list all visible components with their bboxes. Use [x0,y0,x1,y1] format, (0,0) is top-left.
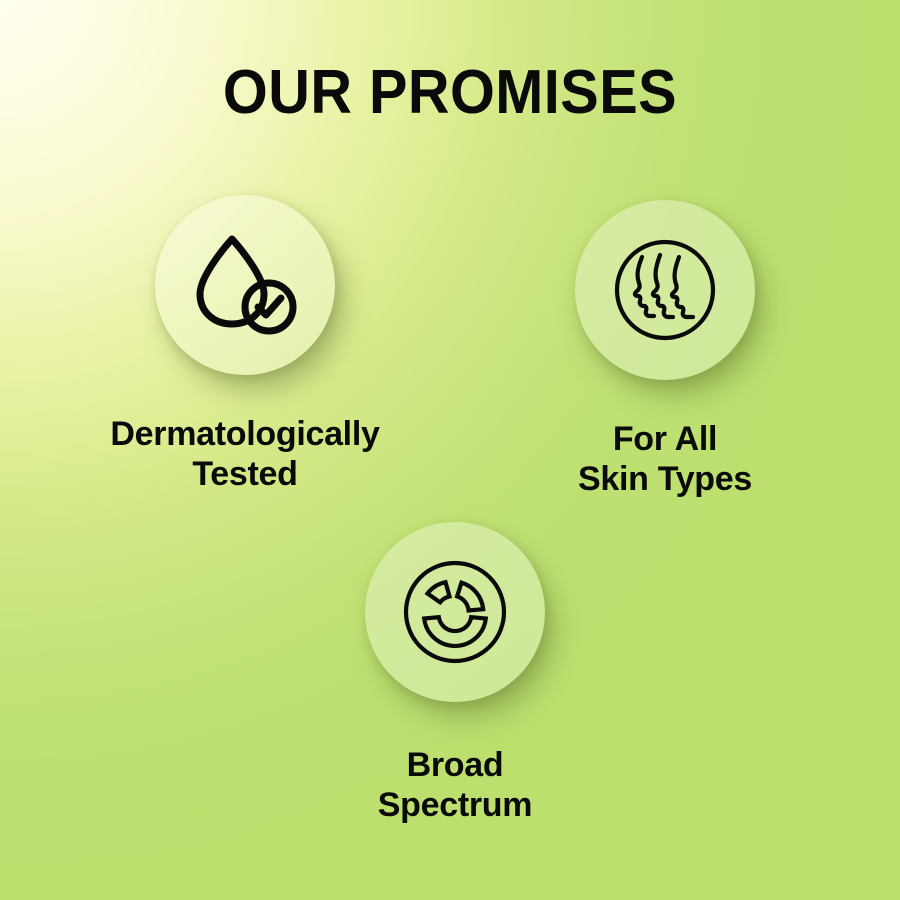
segmented-ring-icon [395,552,515,672]
promise-label: For All Skin Types [505,420,825,500]
page-title: OUR PROMISES [32,62,869,124]
promise-item-broad-spectrum: Broad Spectrum [295,522,615,826]
promise-badge-circle [365,522,545,702]
promise-label: Dermatologically Tested [85,415,405,495]
three-faces-circle-icon [605,230,725,350]
promise-label: Broad Spectrum [295,746,615,826]
water-drop-check-icon [185,225,305,345]
promises-poster: OUR PROMISES Dermatologically Tested [0,0,900,900]
promise-item-dermatologically-tested: Dermatologically Tested [85,195,405,495]
promise-badge-circle [155,195,335,375]
promise-badge-circle [575,200,755,380]
promise-item-for-all-skin-types: For All Skin Types [505,200,825,500]
